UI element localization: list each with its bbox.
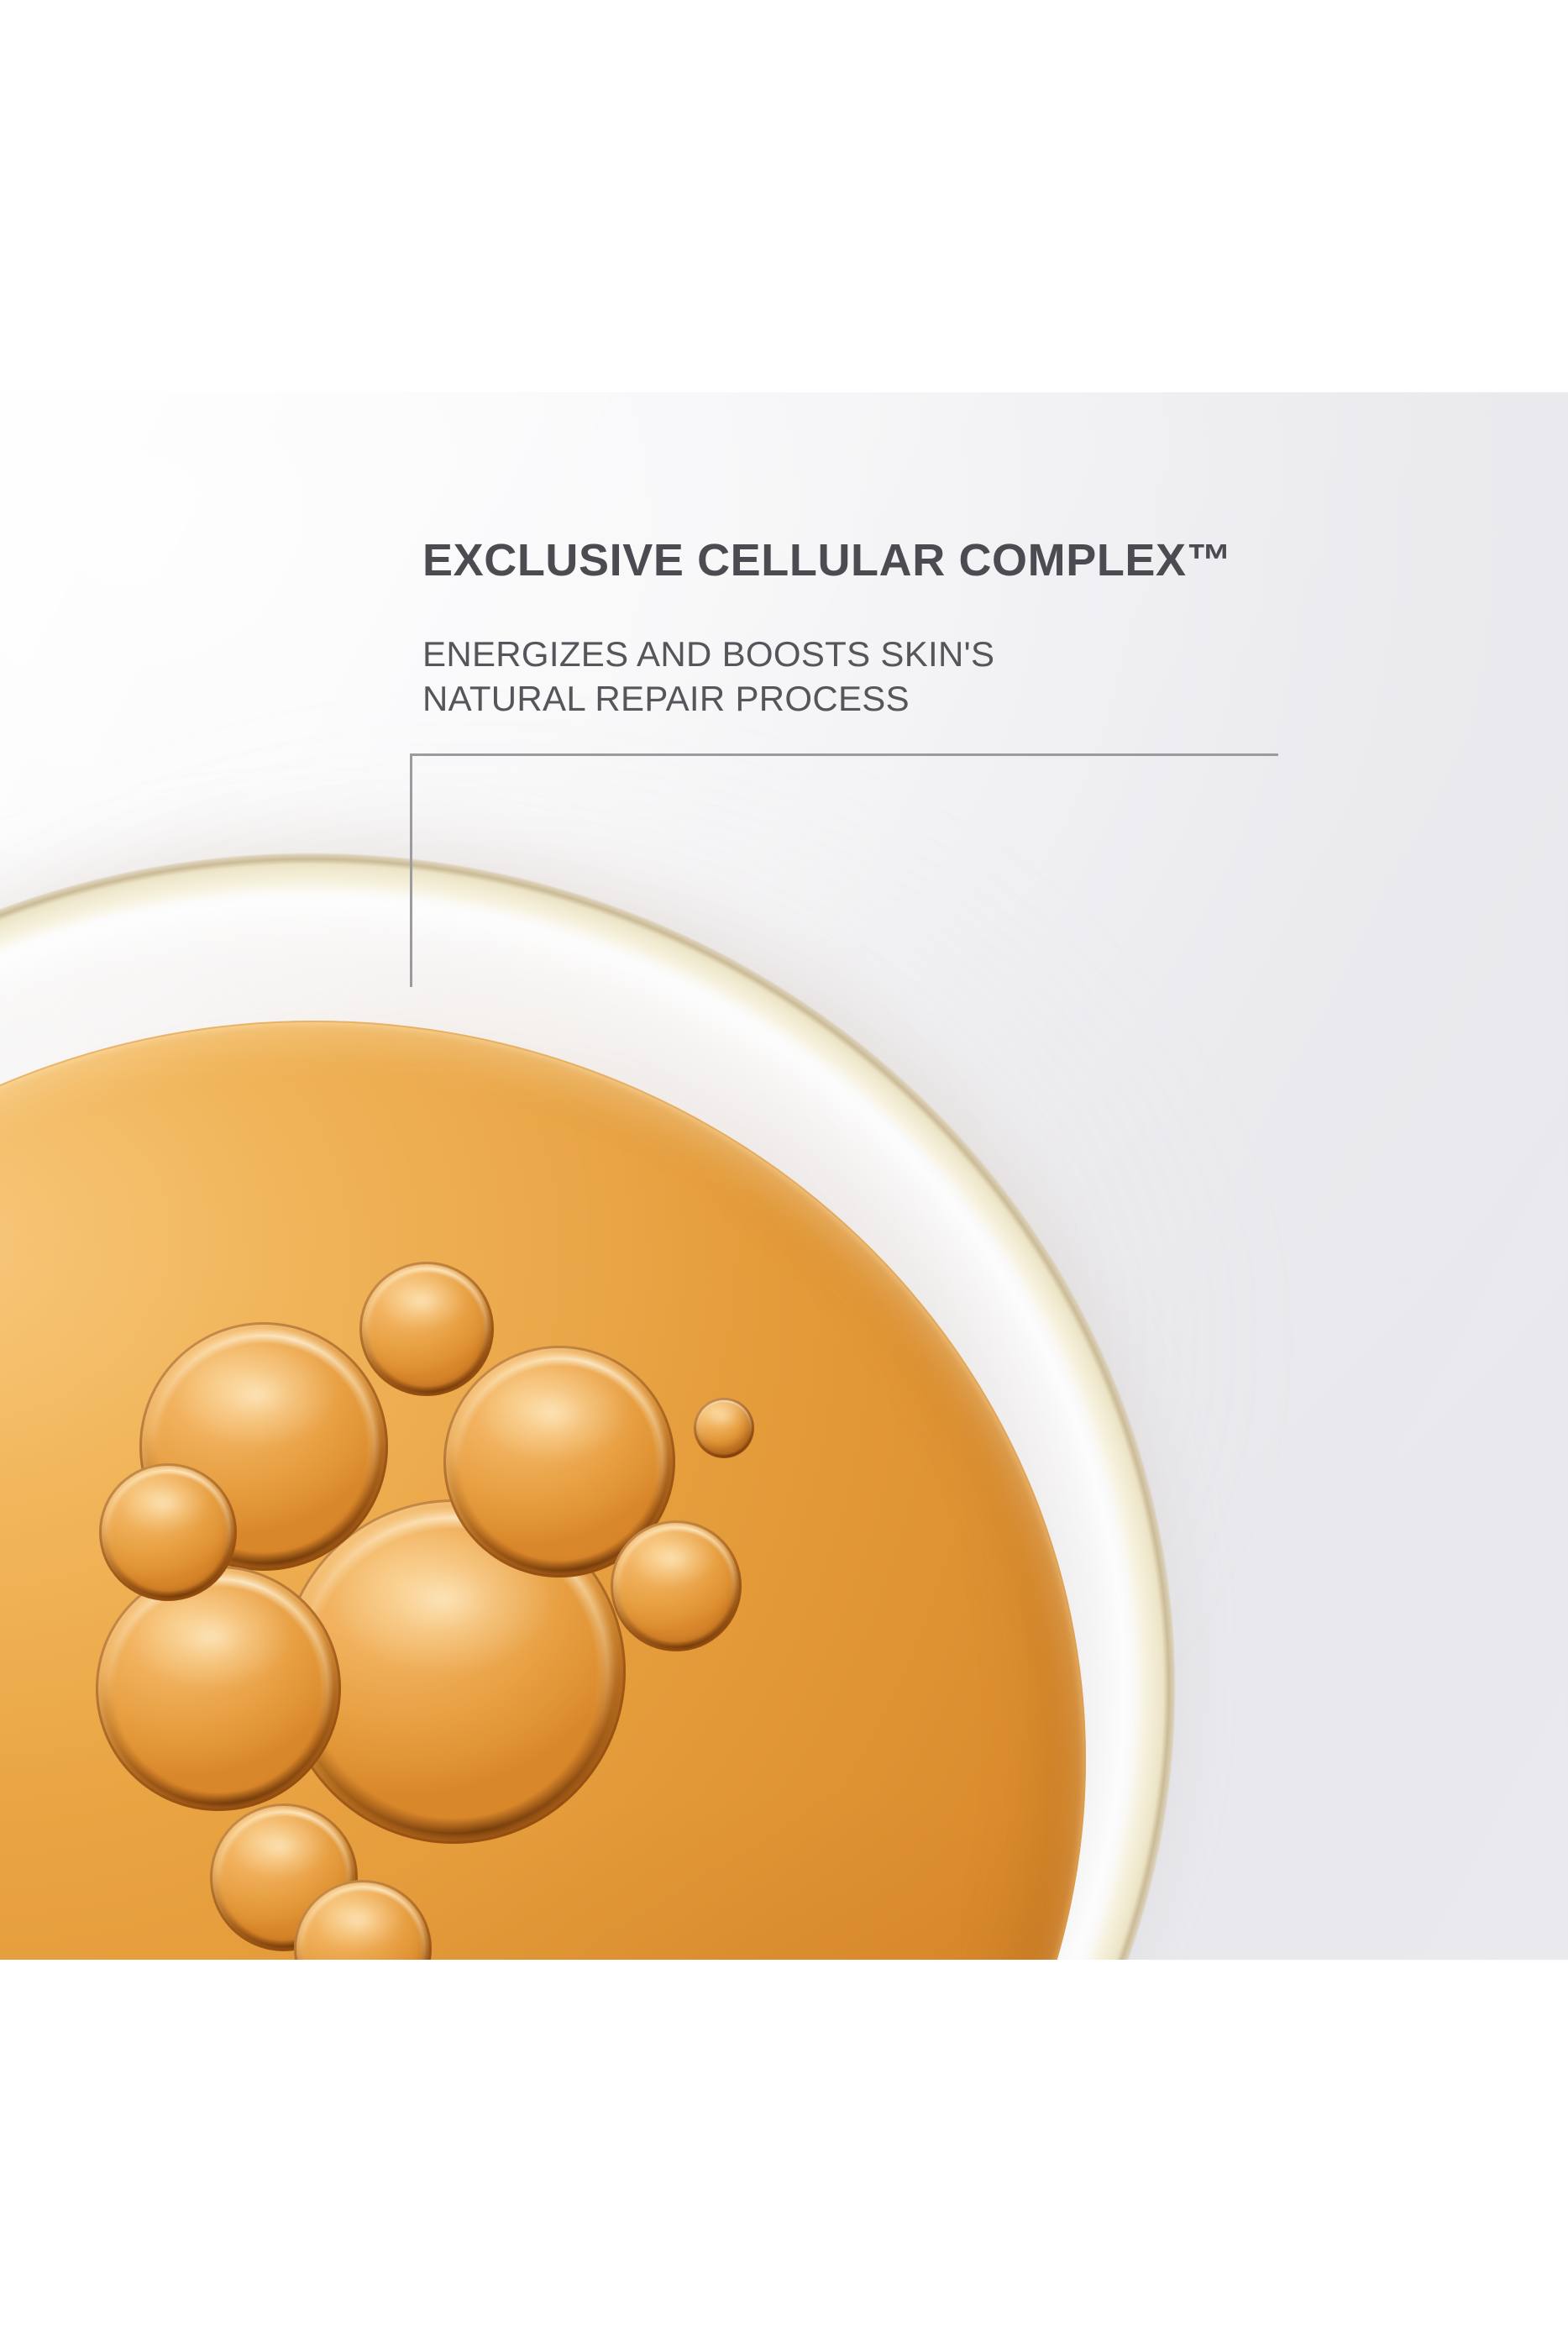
bubble-left-small <box>99 1463 237 1601</box>
bubble-contact-ring <box>611 1520 742 1651</box>
bubble-contact-ring <box>99 1463 237 1601</box>
bubble-contact-ring <box>96 1566 341 1811</box>
bubble-right-small <box>611 1520 742 1651</box>
product-feature-panel: EXCLUSIVE CELLULAR COMPLEX™ ENERGIZES AN… <box>0 0 1568 2352</box>
subtitle: ENERGIZES AND BOOSTS SKIN'S NATURAL REPA… <box>422 632 994 721</box>
callout-horizontal-rule <box>410 753 1278 756</box>
callout-vertical-rule <box>410 753 412 987</box>
bubble-top-small <box>359 1262 494 1396</box>
product-photo <box>0 392 1568 1960</box>
bubble-contact-ring <box>694 1398 754 1458</box>
bubble-contact-ring <box>359 1262 494 1396</box>
bubble-isolated <box>694 1398 754 1458</box>
headline: EXCLUSIVE CELLULAR COMPLEX™ <box>422 537 1232 585</box>
bubble-mid-left <box>96 1566 341 1811</box>
